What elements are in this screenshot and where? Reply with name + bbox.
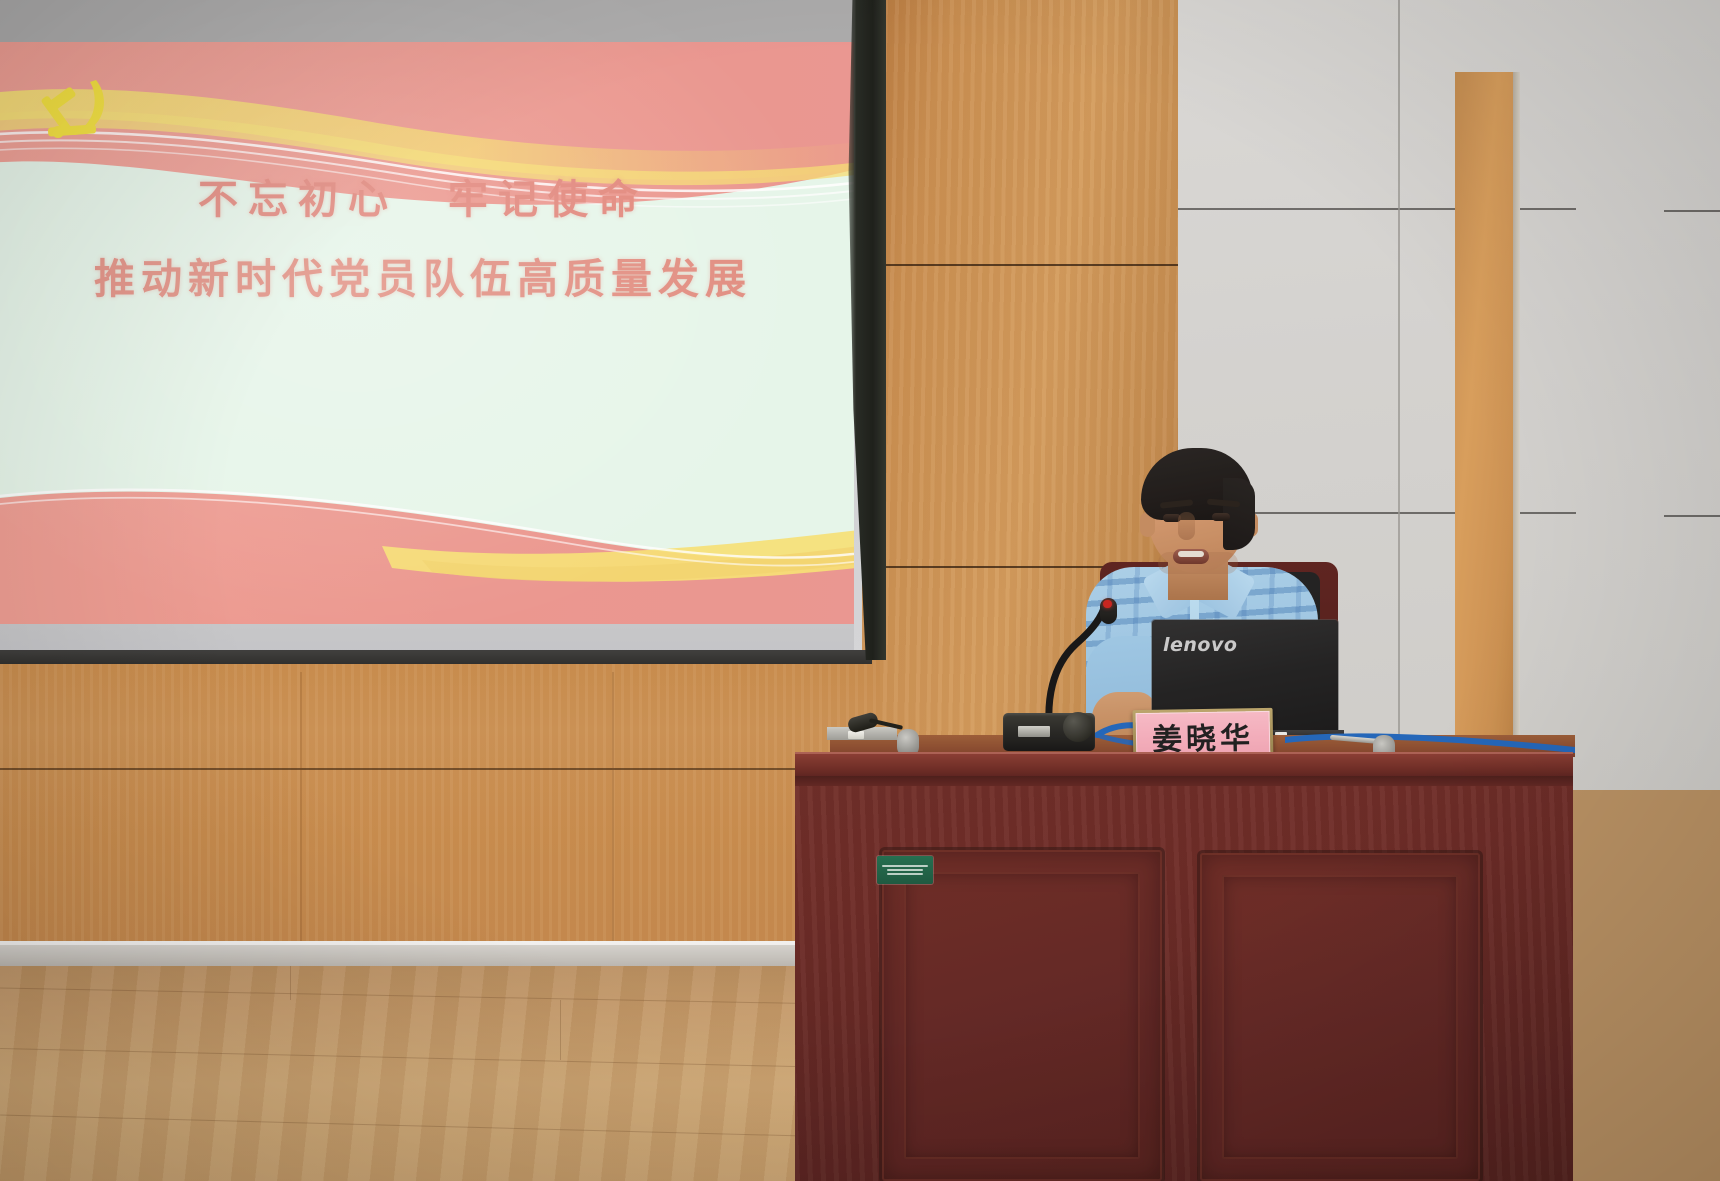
asset-label-line (887, 873, 924, 875)
slide-title-line-1: 不忘初心 牢记使命 (0, 172, 854, 228)
wall-seam (1664, 515, 1720, 517)
floor-seam (560, 1000, 561, 1060)
screen-bottom-bar (0, 650, 872, 664)
slide-bottom-wave-graphic (0, 464, 854, 624)
baseboard-highlight (0, 941, 880, 945)
wood-grain (0, 655, 880, 955)
conference-room-scene: 不忘初心 牢记使命 推动新时代党员队伍高质量发展 lenovo (0, 0, 1720, 1181)
speaker-teeth (1178, 551, 1204, 557)
asset-label-line (882, 865, 928, 867)
speaker-eye (1212, 513, 1230, 521)
floor-grain (0, 966, 880, 1181)
podium-lip (795, 776, 1573, 786)
screen-surface: 不忘初心 牢记使命 推动新时代党员队伍高质量发展 (0, 0, 854, 656)
asset-label-line (887, 869, 924, 871)
wainscot-joint (612, 672, 614, 957)
slide-title-line-2: 推动新时代党员队伍高质量发展 (0, 250, 854, 308)
wall-seam (1664, 210, 1720, 212)
hammer-and-sickle-emblem (38, 72, 116, 144)
microphone-active-indicator (1103, 600, 1112, 608)
wall-wood-strip-edge (1513, 72, 1520, 790)
speaker-nose (1178, 512, 1195, 540)
microphone-base-label (1018, 726, 1050, 737)
wood-floor (0, 966, 880, 1181)
wood-wainscot (0, 655, 880, 955)
baseboard (0, 941, 880, 969)
projection-screen[interactable]: 不忘初心 牢记使命 推动新时代党员队伍高质量发展 (0, 0, 882, 660)
podium-panel-left (882, 850, 1162, 1181)
podium-top-edge (795, 752, 1573, 776)
wainscot-seam (0, 768, 880, 770)
wall-seam (1398, 0, 1400, 790)
microphone-base-knob[interactable] (1063, 712, 1093, 742)
wall-wood-strip (1455, 72, 1517, 790)
podium-panel-right (1200, 853, 1480, 1181)
laptop-brand-logo: lenovo (1163, 634, 1237, 656)
wood-column-seam (862, 264, 1178, 266)
wainscot-joint (300, 672, 302, 957)
podium-panel-inner (1222, 875, 1458, 1159)
podium-panel-inner (904, 872, 1140, 1159)
asset-label (877, 856, 933, 884)
floor-seam (290, 966, 291, 1000)
